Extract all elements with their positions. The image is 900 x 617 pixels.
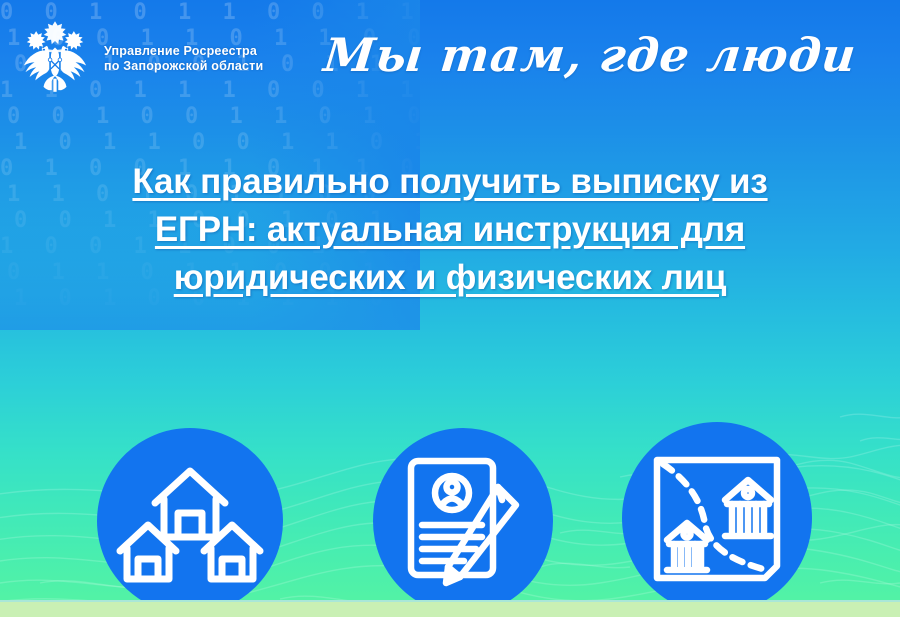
title-line-1: Как правильно получить выписку из	[0, 158, 900, 206]
bottom-accent-strip	[0, 600, 900, 617]
organization-name: Управление Росреестра по Запорожской обл…	[104, 44, 263, 74]
land-plot-map-icon	[647, 448, 787, 588]
page-title: Как правильно получить выписку из ЕГРН: …	[0, 158, 900, 302]
houses-icon	[115, 451, 265, 591]
organization-line-2: по Запорожской области	[104, 59, 263, 74]
banner-header: Управление Росреестра по Запорожской обл…	[0, 0, 900, 118]
rosreestr-announcement-banner: 0 0 1 0 1 1 0 0 1 1 0 1 0 0 1 1 0 0 11 0…	[0, 0, 900, 617]
document-icon-circle	[373, 428, 553, 614]
houses-icon-circle	[97, 428, 283, 614]
document-person-pencil-icon	[398, 451, 528, 591]
title-line-3: юридических и физических лиц	[0, 254, 900, 302]
slogan-text: Мы там, где люди	[321, 28, 859, 82]
organization-line-1: Управление Росреестра	[104, 44, 263, 59]
binary-row: 1 0 1 1 0 0 1 1 0 1 0 0 1 1 0 1 0 0 1	[14, 130, 420, 156]
map-icon-circle	[622, 422, 812, 614]
rosreestr-double-headed-eagle-emblem	[14, 18, 96, 100]
icon-row	[0, 420, 900, 617]
title-line-2: ЕГРН: актуальная инструкция для	[0, 206, 900, 254]
